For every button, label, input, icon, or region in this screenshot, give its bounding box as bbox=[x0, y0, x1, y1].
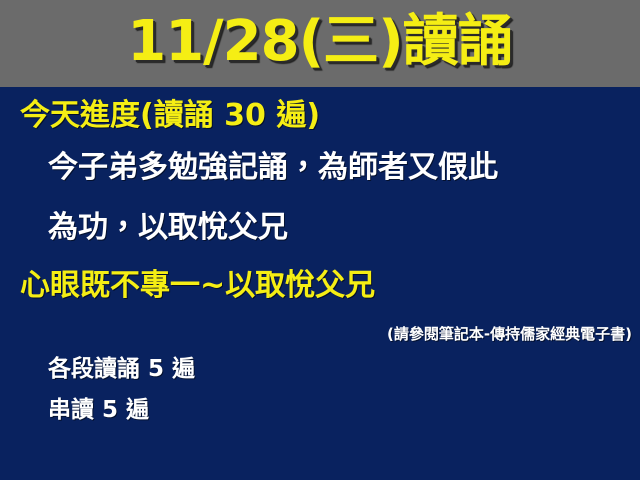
source-note: (請參閱筆記本-傳持儒家經典電子書) bbox=[387, 327, 632, 342]
slide-title: 11/28(三)讀誦 bbox=[127, 14, 513, 74]
slide-title-band: 11/28(三)讀誦 bbox=[0, 0, 640, 87]
heading-todays-progress: 今天進度(讀誦 30 遍) bbox=[20, 101, 320, 131]
quote-line-2: 為功，以取悅父兄 bbox=[48, 213, 288, 243]
slide-body: 今天進度(讀誦 30 遍) 今子弟多勉強記誦，為師者又假此 為功，以取悅父兄 心… bbox=[0, 87, 640, 480]
heading-focus-statement: 心眼既不專一~以取悅父兄 bbox=[20, 271, 375, 301]
quote-line-1: 今子弟多勉強記誦，為師者又假此 bbox=[48, 153, 498, 183]
recitation-count-per-section: 各段讀誦 5 遍 bbox=[48, 358, 195, 381]
presentation-slide: 11/28(三)讀誦 今天進度(讀誦 30 遍) 今子弟多勉強記誦，為師者又假此… bbox=[0, 0, 640, 480]
recitation-count-continuous: 串讀 5 遍 bbox=[48, 399, 149, 422]
